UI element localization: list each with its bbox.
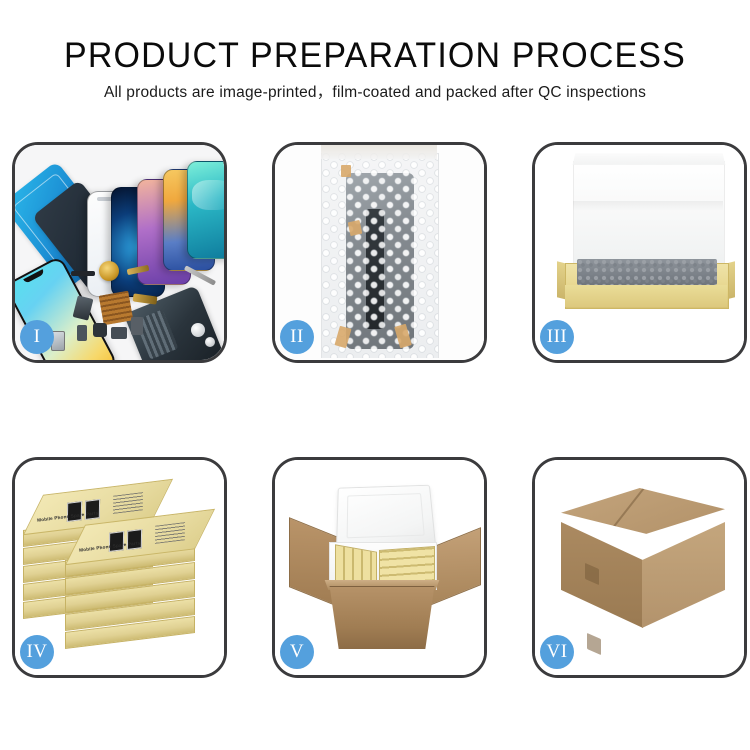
step-badge-6: VI [540,635,574,669]
washer-icon [205,337,215,347]
process-step-panel-2[interactable]: II [272,142,487,363]
step-badge-3: III [540,320,574,354]
process-step-panel-5[interactable]: V [272,457,487,678]
yellow-box-front-icon [565,285,727,307]
connector-icon [111,327,127,339]
foam-shadow [573,201,723,211]
process-step-panel-3[interactable]: III [532,142,747,363]
step-badge-5: V [280,635,314,669]
process-step-panel-6[interactable]: VI [532,457,747,678]
sim-tray-icon [77,325,87,341]
tape-piece-icon [341,165,351,177]
process-step-grid: I II [12,142,738,678]
page-title: PRODUCT PREPARATION PROCESS [11,36,739,76]
small-chip-icon [93,323,107,337]
process-step-panel-1[interactable]: I [12,142,227,363]
vibration-motor-icon [99,261,119,281]
page-header: PRODUCT PREPARATION PROCESS All products… [0,0,750,104]
phone-display-teal-icon [187,161,224,259]
bag-seal-icon [321,145,437,159]
step-badge-4: IV [20,635,54,669]
battery-connector-icon [131,317,143,335]
white-foam-lid-icon [573,161,725,275]
screw-tray-icon [99,291,134,326]
page-subtitle: All products are image-printed，film-coat… [0,82,750,104]
screw-icon [191,323,205,337]
foam-lid-open-icon [336,485,436,550]
earpiece-speaker-icon [71,271,95,276]
tape-piece-icon [348,220,363,236]
process-step-panel-4[interactable]: Mobile Phone Spare Parts Mobile Phone Sp… [12,457,227,678]
carton-body-icon [325,586,439,649]
step-badge-2: II [280,320,314,354]
step-badge-1: I [20,320,54,354]
grey-foam-padding-icon [577,259,717,285]
